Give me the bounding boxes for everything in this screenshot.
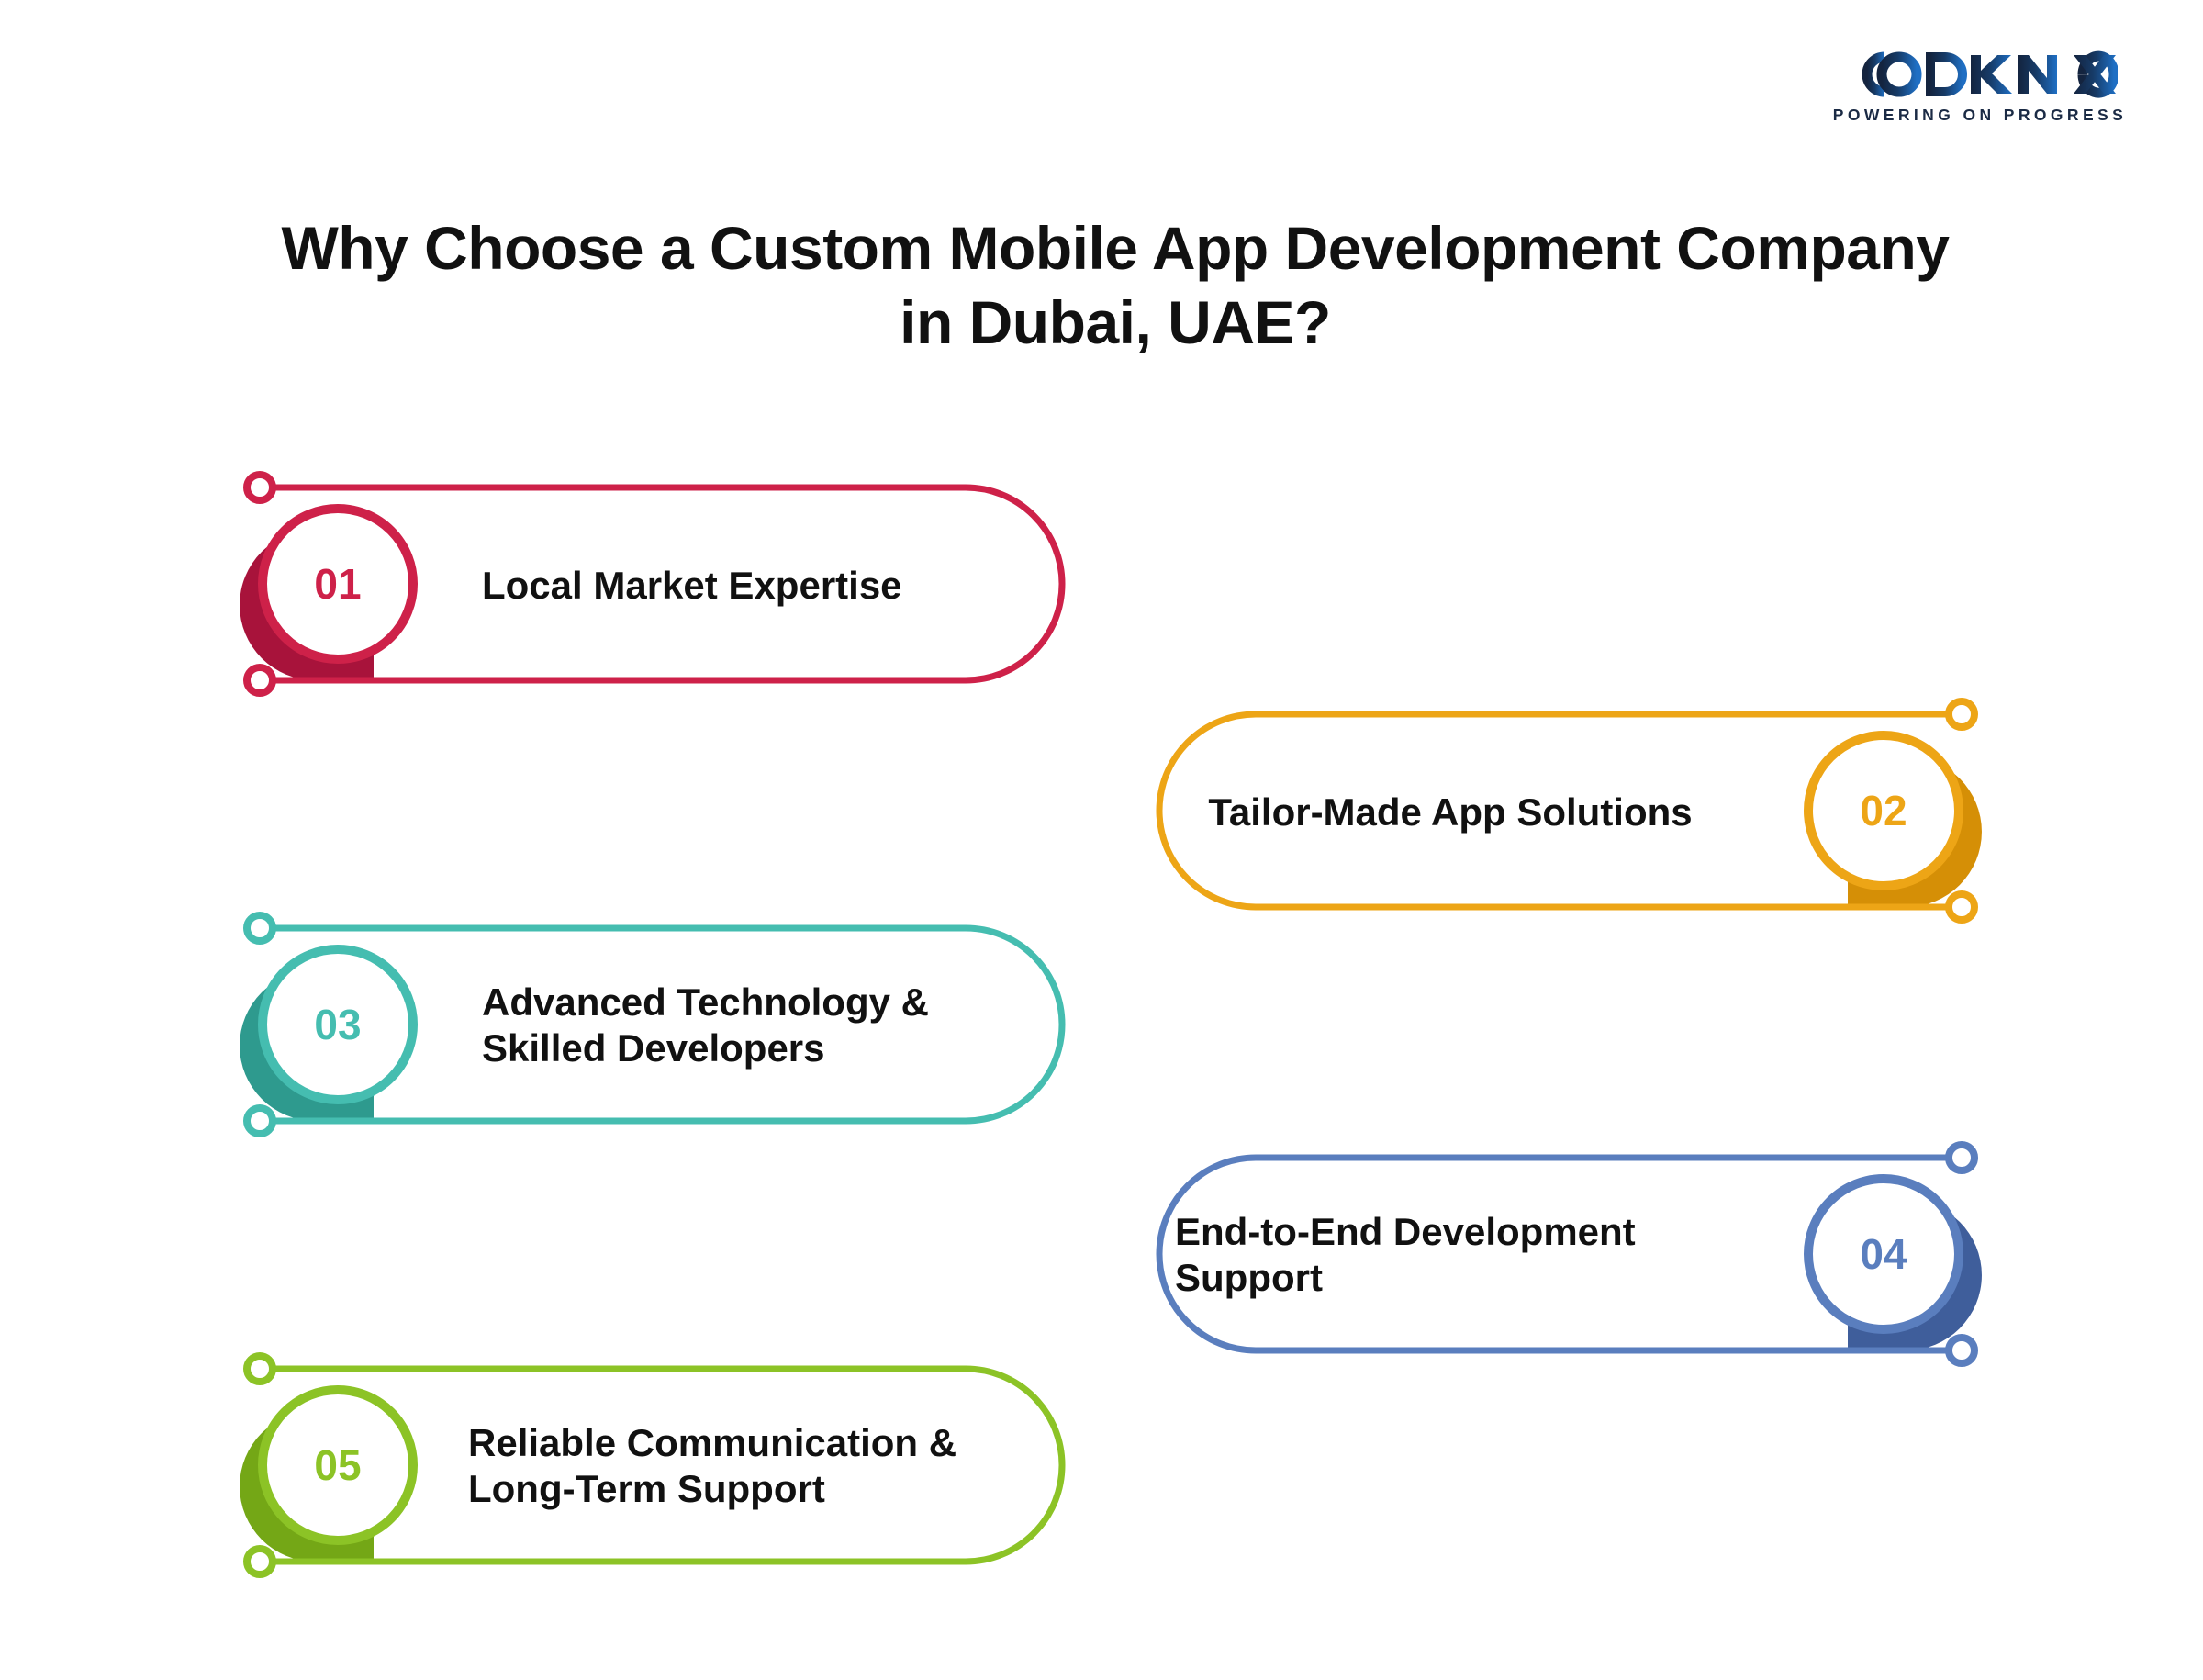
connector-dot-bottom-4 (1949, 1338, 1974, 1363)
benefit-card-4[interactable]: 04 End-to-End Development Support (1088, 1134, 2015, 1377)
card-number-2: 02 (1824, 783, 1943, 838)
connector-dot-bottom-2 (1949, 894, 1974, 920)
card-label-2: Tailor-Made App Solutions (1088, 790, 1813, 835)
benefit-card-3[interactable]: 03 Advanced Technology & Skilled Develop… (207, 904, 1134, 1148)
card-label-3: Advanced Technology & Skilled Developers (482, 980, 929, 1070)
card-number-4: 04 (1824, 1226, 1943, 1282)
card-number-3: 03 (278, 997, 397, 1052)
connector-dot-bottom-1 (247, 667, 273, 693)
benefit-card-2[interactable]: 02 Tailor-Made App Solutions (1088, 690, 2015, 934)
card-number-5: 05 (278, 1438, 397, 1493)
connector-dot-top-2 (1949, 701, 1974, 727)
card-label-5: Reliable Communication & Long-Term Suppo… (468, 1420, 956, 1511)
connector-dot-top-4 (1949, 1145, 1974, 1170)
connector-dot-bottom-5 (247, 1549, 273, 1574)
connector-dot-top-1 (247, 475, 273, 500)
connector-dot-top-3 (247, 915, 273, 941)
benefit-card-1[interactable]: 01 Local Market Expertise (207, 464, 1134, 707)
card-label-1: Local Market Expertise (482, 563, 902, 609)
benefits-list: 01 Local Market Expertise 02 Tailor-Made… (0, 0, 2203, 1680)
benefit-card-5[interactable]: 05 Reliable Communication & Long-Term Su… (207, 1345, 1134, 1588)
connector-dot-bottom-3 (247, 1108, 273, 1134)
card-number-1: 01 (278, 556, 397, 611)
card-label-4: End-to-End Development Support (1175, 1209, 1636, 1300)
connector-dot-top-5 (247, 1356, 273, 1382)
